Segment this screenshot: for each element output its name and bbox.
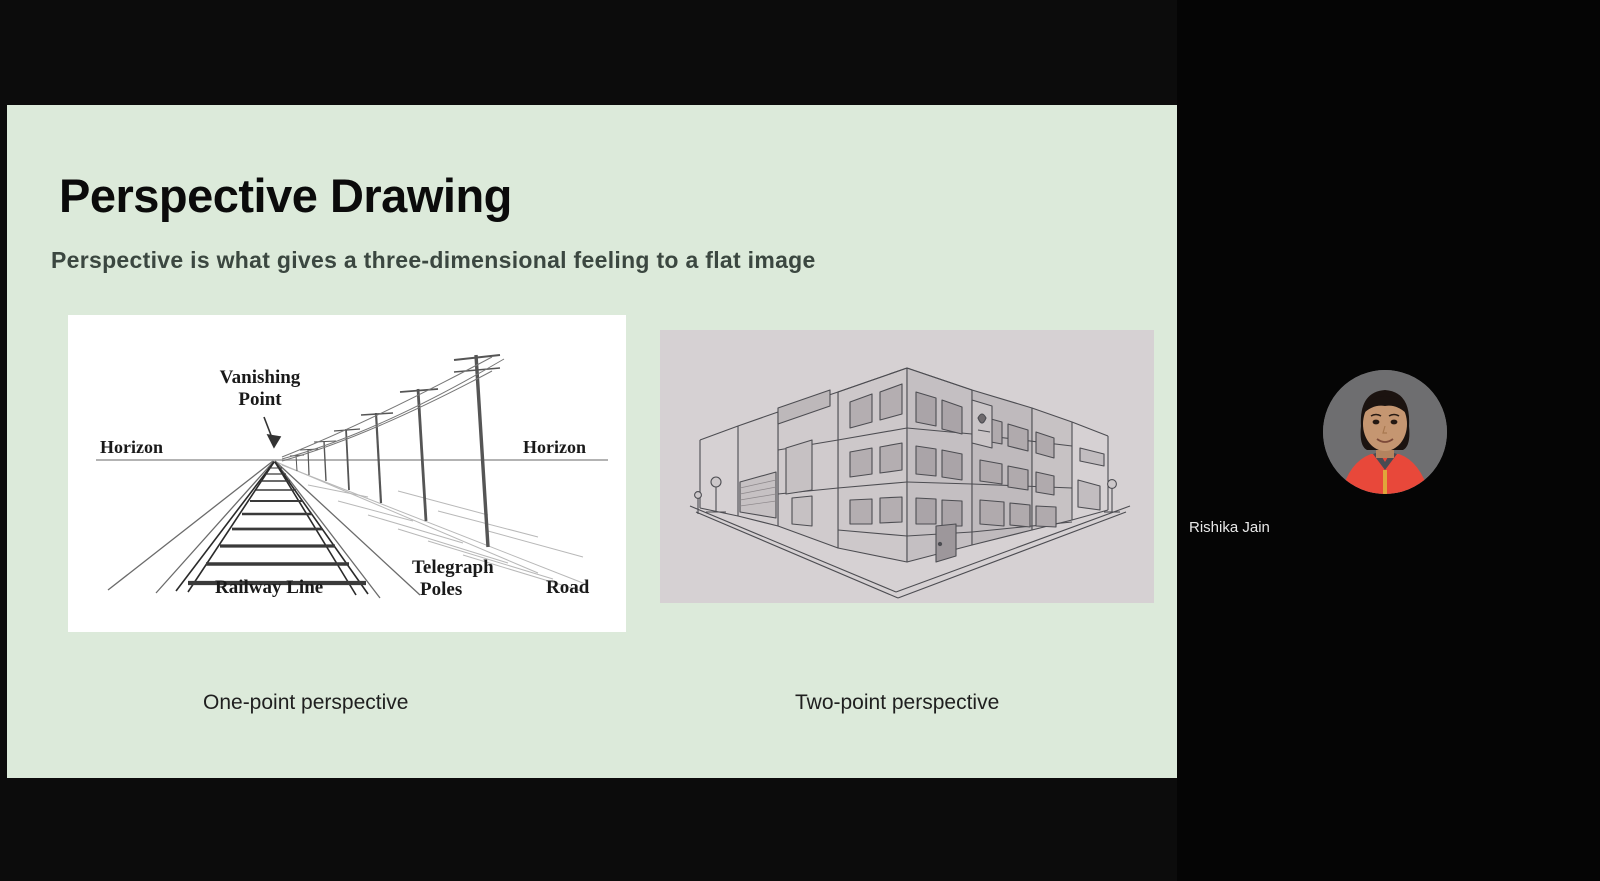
caption-one-point-perspective: One-point perspective [203,691,408,715]
presentation-slide: Perspective Drawing Perspective is what … [7,105,1177,778]
caption-two-point-perspective: Two-point perspective [795,691,999,715]
label-horizon-left: Horizon [100,437,163,457]
participant-video-tile[interactable]: Rishika Jain [1177,0,1600,881]
label-railway-line: Railway Line [215,577,323,598]
two-point-perspective-sketch [660,330,1154,603]
label-road: Road [546,577,590,598]
label-vanishing-point-line2: Point [238,389,282,410]
screen-share-area: Perspective Drawing Perspective is what … [0,0,1177,881]
slide-subtitle: Perspective is what gives a three-dimens… [51,247,816,274]
page-title: Perspective Drawing [59,171,512,220]
avatar-photo [1323,370,1447,494]
meeting-window: Perspective Drawing Perspective is what … [0,0,1600,881]
avatar [1323,370,1447,494]
figure-two-point-perspective [660,330,1154,603]
building-wall-poster [972,400,992,448]
label-vanishing-point-line1: Vanishing [220,367,301,388]
participant-panel: Rishika Jain [1177,0,1600,881]
label-telegraph-poles-line1: Telegraph [412,557,494,578]
participant-name-label: Rishika Jain [1189,519,1270,536]
label-horizon-right: Horizon [523,437,586,457]
one-point-perspective-diagram: Vanishing Point Horizon Horizon Railway … [68,315,626,632]
label-telegraph-poles-line2: Poles [420,579,462,600]
figure-one-point-perspective: Vanishing Point Horizon Horizon Railway … [68,315,626,632]
